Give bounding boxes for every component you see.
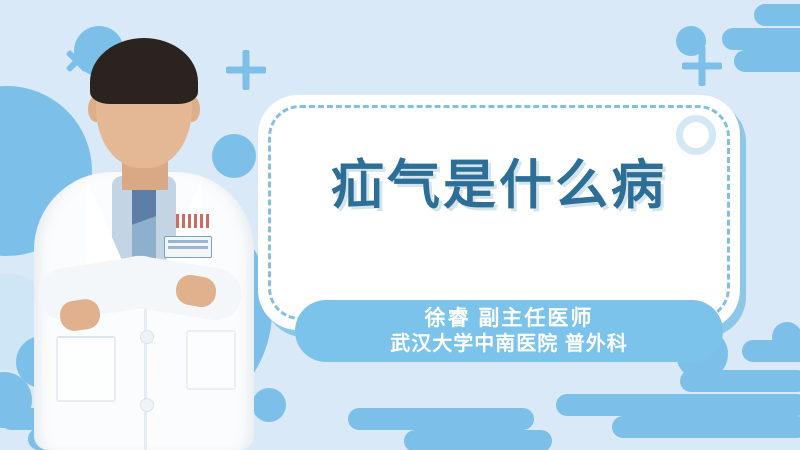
byline-pill: 徐睿 副主任医师 武汉大学中南医院 普外科 [295, 300, 723, 362]
page-title: 疝气是什么病 [258, 143, 740, 219]
doctor-name-title: 徐睿 副主任医师 [425, 306, 594, 332]
video-cover-canvas: 疝气是什么病 徐睿 副主任医师 武汉大学中南医院 普外科 [0, 0, 800, 450]
doctor-hair [90, 38, 198, 104]
dot-icon [676, 26, 706, 56]
speed-bar-icon [754, 4, 800, 26]
dot-icon [772, 322, 800, 352]
doctor-name-badge [164, 236, 212, 258]
doctor-affiliation: 武汉大学中南医院 普外科 [390, 332, 628, 357]
speed-bar-icon [612, 416, 800, 438]
speed-bar-icon [348, 408, 534, 430]
doctor-coat-logo [176, 214, 210, 228]
doctor-tie [132, 184, 156, 266]
speed-bar-icon [654, 394, 800, 416]
doctor-coat-button [140, 398, 154, 412]
avatar [0, 0, 280, 450]
speed-bar-icon [734, 50, 800, 72]
speed-bar-icon [722, 28, 800, 50]
doctor-coat-button [140, 330, 154, 344]
doctor-pocket-right [186, 330, 236, 390]
title-card: 疝气是什么病 [258, 95, 740, 330]
speed-bar-icon [404, 430, 552, 450]
doctor-pocket-left [56, 336, 116, 402]
